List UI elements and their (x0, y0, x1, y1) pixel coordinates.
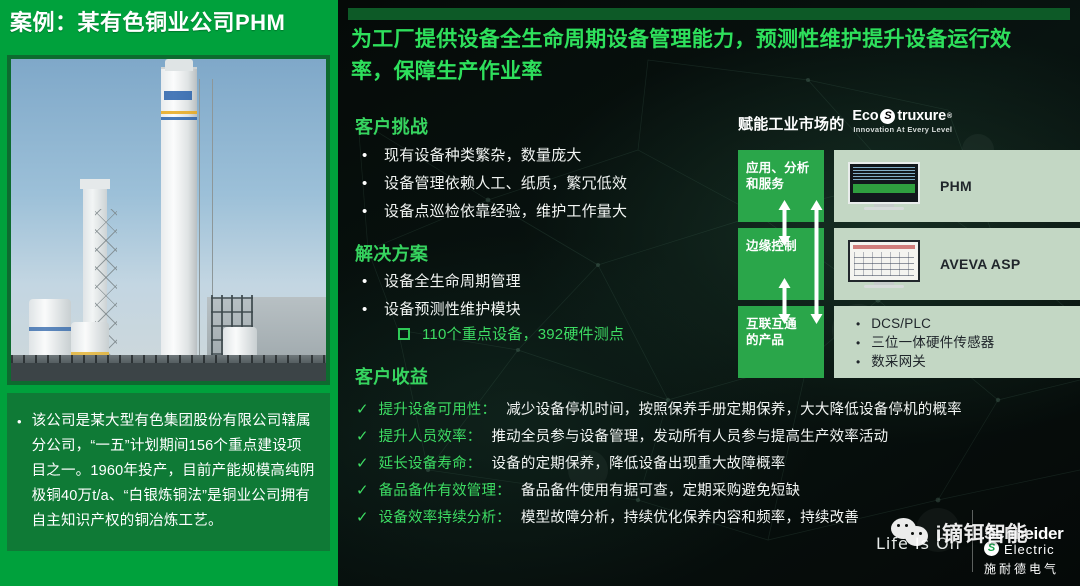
list-item-label: 设备管理依赖人工、纸质，繁冗低效 (384, 170, 627, 198)
list-item: ✓ 备品备件有效管理： 备品备件使用有据可查，定期采购避免短缺 (356, 479, 1056, 500)
list-item: • 设备预测性维护模块 (362, 296, 762, 324)
list-item: • 设备全生命周期管理 (362, 268, 762, 296)
list-item-label: 设备全生命周期管理 (384, 268, 521, 296)
case-photo (11, 59, 326, 381)
schneider-wordmark-cn: 施耐德电气 (984, 560, 1059, 577)
product-label: 数采网关 (871, 352, 926, 371)
wechat-icon (891, 518, 929, 548)
bidirectional-arrow-icon (778, 200, 791, 246)
ecostruxure-logo: Eco S truxure ® Innovation At Every Leve… (852, 108, 960, 138)
list-item: • 三位一体硬件传感器 (856, 333, 1080, 352)
list-item-label: 现有设备种类繁杂，数量庞大 (384, 142, 582, 170)
list-item: • DCS/PLC (856, 314, 1080, 333)
section-heading-challenge: 客户挑战 (355, 113, 428, 139)
benefit-body: 设备的定期保养，降低设备出现重大故障概率 (491, 452, 785, 473)
photo-ground (11, 363, 326, 381)
left-panel: 案例：某有色铜业公司PHM (0, 0, 338, 586)
case-photo-frame (7, 55, 330, 385)
bullet-icon: • (856, 317, 860, 331)
diagram-title-row: 赋能工业市场的 Eco S truxure ® Innovation At Ev… (738, 108, 960, 138)
list-item: ✓ 提升设备可用性： 减少设备停机时间，按照保养手册定期保养，大大降低设备停机的… (356, 398, 1056, 419)
list-item-label: 设备预测性维护模块 (384, 296, 521, 324)
company-description-card: • 该公司是某大型有色集团股份有限公司辖属分公司，“一五”计划期间156个重点建… (7, 393, 330, 551)
layer-box-connected-products: • DCS/PLC • 三位一体硬件传感器 • 数采网关 (834, 306, 1080, 378)
square-bullet-icon (398, 328, 410, 340)
benefit-body: 备品备件使用有据可查，定期采购避免短缺 (521, 479, 800, 500)
watermark-text: i镝铒智能 (936, 518, 1028, 548)
bullet-icon: • (856, 336, 860, 350)
bullet-icon: • (362, 198, 370, 226)
benefit-label: 提升人员效率： (379, 425, 482, 446)
check-icon: ✓ (356, 481, 369, 499)
list-item: • 设备管理依赖人工、纸质，繁冗低效 (362, 170, 742, 198)
layer-label-line1: 应用、分析 (746, 160, 816, 176)
bullet-icon: • (856, 355, 860, 369)
slide-root: 案例：某有色铜业公司PHM (0, 0, 1080, 586)
headline: 为工厂提供设备全生命周期设备管理能力，预测性维护提升设备运行效率，保障生产作业率 (351, 24, 1051, 88)
page-title: 案例：某有色铜业公司PHM (0, 5, 285, 37)
bullet-icon: • (362, 268, 370, 296)
monitor-icon (848, 162, 920, 210)
list-item: ✓ 延长设备寿命： 设备的定期保养，降低设备出现重大故障概率 (356, 452, 1056, 473)
benefit-label: 备品备件有效管理： (379, 479, 511, 500)
left-title-band: 案例：某有色铜业公司PHM (0, 0, 338, 42)
benefit-label: 提升设备可用性： (379, 398, 497, 419)
ecostruxure-tagline: Innovation At Every Level (853, 125, 952, 134)
check-icon: ✓ (356, 427, 369, 445)
section-heading-solution: 解决方案 (355, 240, 428, 266)
benefit-body: 推动全员参与设备管理，发动所有人员参与提高生产效率活动 (491, 425, 888, 446)
benefit-body: 减少设备停机时间，按照保养手册定期保养，大大降低设备停机的概率 (506, 398, 962, 419)
challenge-list: • 现有设备种类繁杂，数量庞大 • 设备管理依赖人工、纸质，繁冗低效 • 设备点… (362, 142, 742, 226)
solution-list: • 设备全生命周期管理 • 设备预测性维护模块 (362, 268, 762, 324)
layer-box-phm: PHM (834, 150, 1080, 222)
bullet-icon: • (362, 170, 370, 198)
product-label: DCS/PLC (871, 314, 931, 333)
ecostruxure-wordmark: Eco S truxure ® (852, 108, 952, 124)
section-heading-benefit: 客户收益 (355, 363, 428, 389)
benefit-label: 延长设备寿命： (379, 452, 482, 473)
wechat-watermark: i镝铒智能 (891, 518, 1028, 548)
bullet-icon: • (362, 296, 370, 324)
ecostruxure-ring-icon: S (880, 109, 895, 124)
benefit-label: 设备效率持续分析： (379, 506, 511, 527)
list-item: • 该公司是某大型有色集团股份有限公司辖属分公司，“一五”计划期间156个重点建… (17, 409, 316, 534)
list-item: • 数采网关 (856, 352, 1080, 371)
bullet-icon: • (17, 409, 22, 534)
product-label-aveva: AVEVA ASP (940, 256, 1021, 272)
solution-sub-item-label: 110个重点设备，392硬件测点 (422, 323, 624, 344)
product-label-phm: PHM (940, 178, 972, 194)
top-accent-bar (348, 8, 1070, 20)
diagram-title: 赋能工业市场的 (738, 113, 844, 134)
check-icon: ✓ (356, 400, 369, 418)
check-icon: ✓ (356, 508, 369, 526)
trademark-symbol: ® (947, 113, 952, 120)
bullet-icon: • (362, 142, 370, 170)
layer-box-aveva: AVEVA ASP (834, 228, 1080, 300)
bidirectional-arrow-icon (778, 278, 791, 324)
solution-sub-item: 110个重点设备，392硬件测点 (398, 323, 624, 344)
list-item: • 设备点巡检依靠经验，维护工作量大 (362, 198, 742, 226)
eco-part2: truxure (897, 108, 946, 124)
layer-label-line2: 和服务 (746, 176, 816, 192)
check-icon: ✓ (356, 454, 369, 472)
list-item: ✓ 提升人员效率： 推动全员参与设备管理，发动所有人员参与提高生产效率活动 (356, 425, 1056, 446)
benefit-body: 模型故障分析，持续优化保养内容和频率，持续改善 (521, 506, 859, 527)
ecostruxure-diagram: 赋能工业市场的 Eco S truxure ® Innovation At Ev… (738, 108, 1080, 390)
product-list: • DCS/PLC • 三位一体硬件传感器 • 数采网关 (834, 306, 1080, 371)
list-item: • 现有设备种类繁杂，数量庞大 (362, 142, 742, 170)
monitor-icon (848, 240, 920, 288)
layer-label-line2: 的产品 (746, 332, 816, 348)
bidirectional-arrow-long-icon (810, 200, 823, 324)
photo-column-tall (161, 67, 197, 357)
product-label: 三位一体硬件传感器 (871, 333, 994, 352)
company-description-text: 该公司是某大型有色集团股份有限公司辖属分公司，“一五”计划期间156个重点建设项… (32, 409, 316, 534)
right-panel: 为工厂提供设备全生命周期设备管理能力，预测性维护提升设备运行效率，保障生产作业率… (338, 0, 1080, 586)
list-item-label: 设备点巡检依靠经验，维护工作量大 (384, 198, 627, 226)
eco-part1: Eco (852, 108, 878, 124)
